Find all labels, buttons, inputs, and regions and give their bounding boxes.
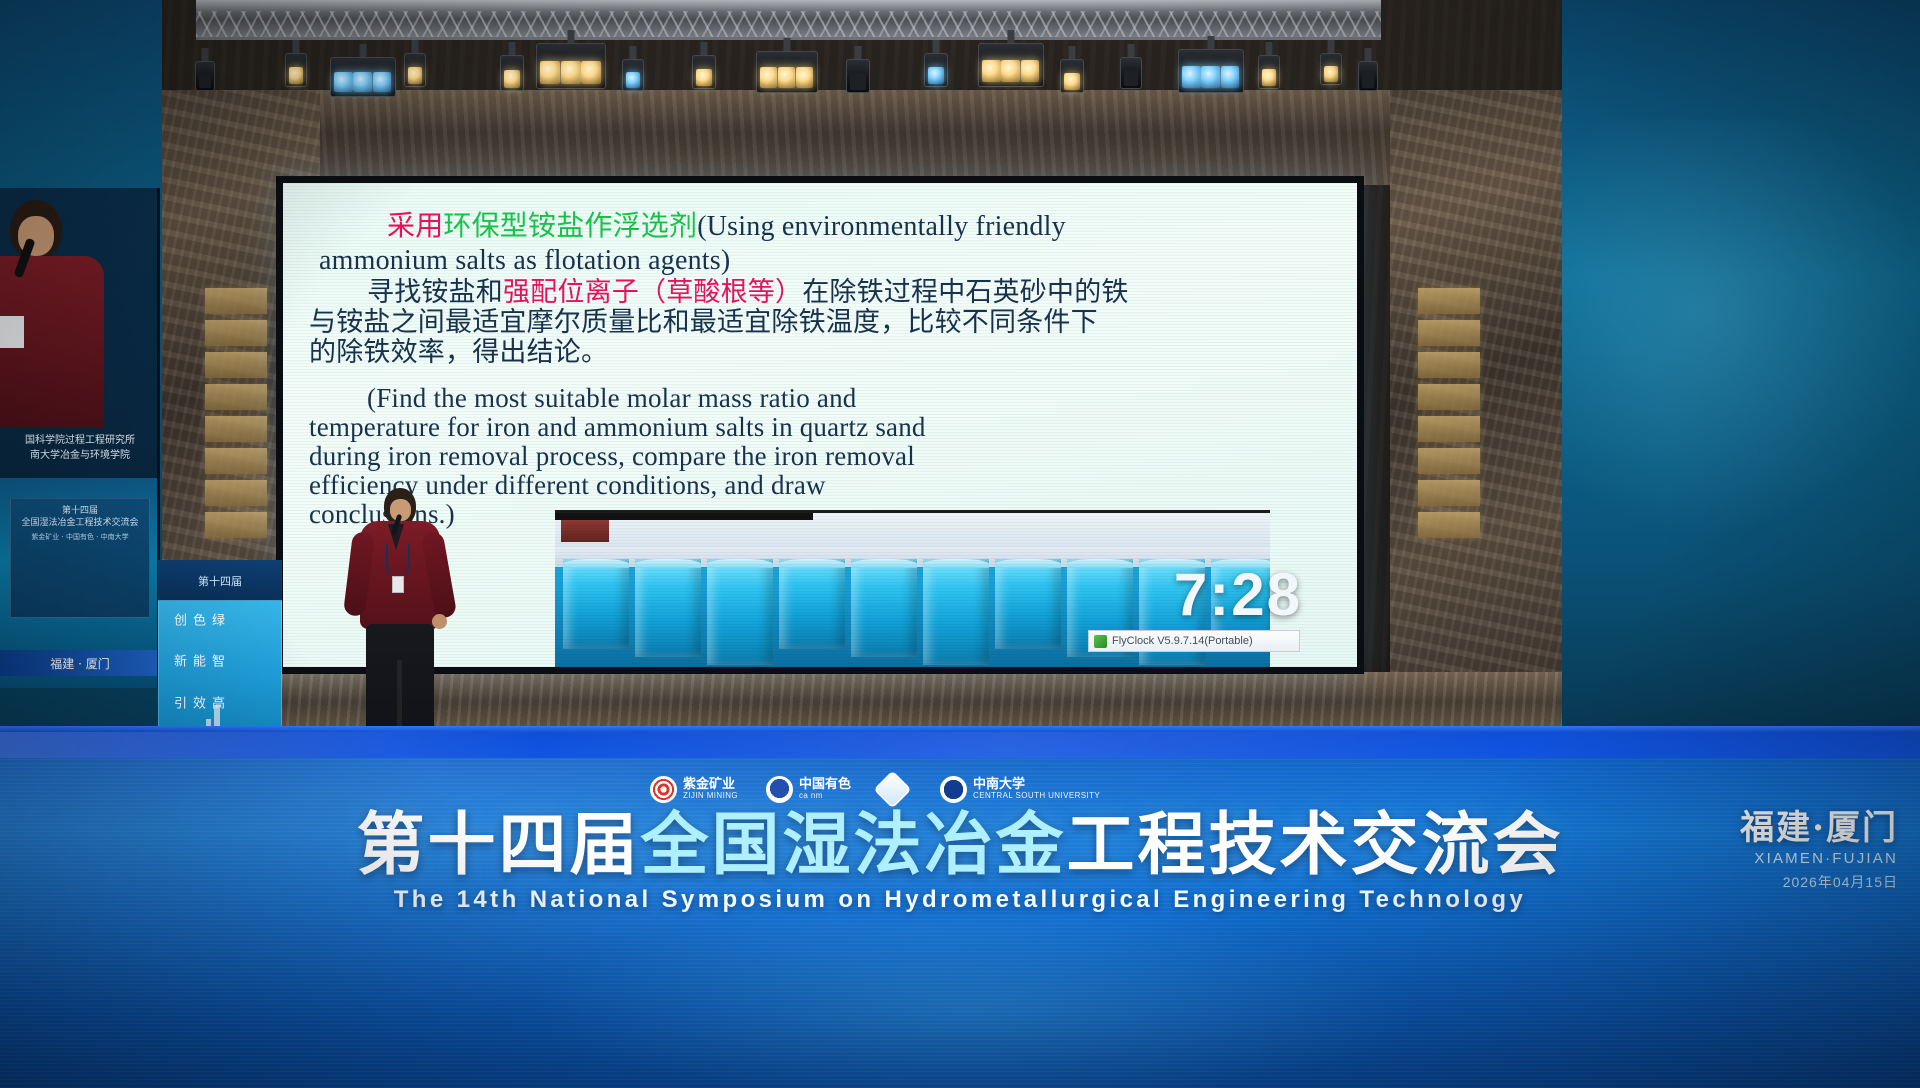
lamp-lens (1201, 66, 1220, 88)
side-screen-caption: 国科学院过程工程研究所 南大学冶金与环境学院 (0, 428, 160, 468)
lamp-housing (1258, 55, 1280, 89)
marble-header-panel (160, 90, 1565, 185)
stage-light-10 (924, 40, 948, 88)
lamp-lens (1064, 73, 1080, 90)
zijin-logo (650, 776, 677, 803)
slide-en-line-2: temperature for iron and ammonium salts … (309, 413, 1339, 442)
lamp-lens (353, 72, 372, 92)
lamp-housing (536, 43, 606, 89)
presenter-lanyard (386, 544, 410, 578)
conference-title-en: The 14th National Symposium on Hydrometa… (0, 886, 1920, 914)
wall-lattice-left (205, 288, 267, 544)
lamp-lens (1362, 73, 1374, 88)
lamp-lens (373, 72, 392, 92)
slide-title-en-part1: (Using environmentally friendly (697, 211, 1066, 242)
side-caption-line1: 国科学院过程工程研究所 (4, 433, 156, 448)
flyclock-taskbar-item[interactable]: FlyClock V5.9.7.14(Portable) (1088, 630, 1300, 652)
lamp-housing (978, 43, 1044, 87)
flotation-tank (995, 559, 1061, 649)
side-screen-speaker-closeup (0, 188, 108, 428)
clock-app-icon (1094, 635, 1107, 648)
lamp-lens (581, 61, 601, 84)
lamp-lens (982, 60, 1001, 82)
lamp-lens (504, 70, 520, 88)
lamp-lens (1001, 60, 1020, 82)
lamp-housing (1060, 59, 1084, 93)
cn-line1-plain1: 寻找铵盐和 (367, 277, 503, 308)
lamp-lens (1324, 66, 1338, 82)
side-poster-line3: 紫金矿业 · 中国有色 · 中南大学 (16, 532, 144, 542)
stage-light-16 (1320, 40, 1342, 86)
flotation-tank (635, 559, 701, 657)
slide-cn-line-3: 的除铁效率，得出结论。 (309, 338, 1339, 368)
stage-light-18 (1358, 48, 1378, 92)
stage-light-5 (536, 30, 606, 90)
lamp-housing (692, 55, 716, 89)
lamp-housing (1178, 49, 1244, 93)
stage-light-4 (500, 42, 524, 92)
slide-title-line1: 采用环保型铵盐作浮选剂(Using environmentally friend… (309, 209, 1339, 244)
standee-col-1: 绿 色 创 (169, 613, 226, 643)
flotation-tank (563, 559, 629, 649)
slide-cn-line-2: 与铵盐之间最适宜摩尔质量比和最适宜除铁温度，比较不同条件下 (309, 308, 1339, 338)
title-segment-highlight: 全国湿法冶金 (640, 805, 1066, 885)
conference-stage-scene: 采用环保型铵盐作浮选剂(Using environmentally friend… (0, 0, 1920, 1088)
lamp-housing (924, 53, 948, 87)
conference-title-cn: 第十四届全国湿法冶金工程技术交流会 (0, 806, 1920, 884)
location-en: XIAMEN·FUJIAN (1648, 850, 1898, 867)
countdown-timer-display: 7:28 (1096, 560, 1310, 628)
lamp-lens (928, 67, 944, 84)
stage-light-2 (330, 44, 396, 98)
side-caption-line2: 南大学冶金与环境学院 (4, 448, 156, 463)
sponsor-logo-4: 中南大学CENTRAL SOUTH UNIVERSITY (940, 776, 1100, 803)
flyclock-label: FlyClock V5.9.7.14(Portable) (1112, 635, 1253, 647)
slide-cn-line-1: 寻找铵盐和强配位离子（草酸根等）在除铁过程中石英砂中的铁 (309, 278, 1339, 308)
conference-location-block: 福建·厦门 XIAMEN·FUJIAN 2026年04月15日 (1648, 808, 1898, 892)
lamp-housing (404, 53, 426, 87)
lamp-housing (330, 57, 396, 97)
stage-light-6 (622, 46, 644, 92)
wall-lattice-right (1418, 288, 1480, 544)
chinalco-logo (766, 776, 793, 803)
lamp-lens (408, 67, 422, 84)
sponsor-name-en: ZIJIN MINING (683, 792, 738, 800)
lamp-lens (1021, 60, 1040, 82)
side-poster-line1: 第十四届 (16, 505, 144, 517)
stage-light-17 (195, 48, 215, 92)
lamp-housing (1320, 53, 1342, 85)
sponsor-text: 中南大学CENTRAL SOUTH UNIVERSITY (973, 778, 1100, 800)
sponsor-name-cn: 紫金矿业 (683, 778, 738, 792)
sponsor-name-cn: 中南大学 (973, 778, 1100, 792)
diamond-logo (873, 770, 911, 808)
presenter-badge (392, 576, 404, 593)
lamp-housing (756, 51, 818, 93)
side-screen-poster: 第十四届 全国湿法冶金工程技术交流会 紫金矿业 · 中国有色 · 中南大学 (10, 498, 150, 618)
lamp-housing (1120, 57, 1142, 89)
sponsor-text: 紫金矿业ZIJIN MINING (683, 778, 738, 800)
lamp-housing (500, 55, 524, 91)
lamp-lens (1182, 66, 1201, 88)
lamp-housing (622, 59, 644, 91)
lamp-lens (850, 73, 866, 90)
sponsor-logo-row: 紫金矿业ZIJIN MINING中国有色ca nm中南大学CENTRAL SOU… (650, 768, 1070, 810)
sponsor-text: 中国有色ca nm (799, 778, 851, 800)
presenter-person (340, 488, 460, 756)
lamp-housing (195, 61, 215, 91)
sponsor-name-cn: 中国有色 (799, 778, 851, 792)
stage-light-3 (404, 40, 426, 88)
sponsor-logo-1: 紫金矿业ZIJIN MINING (650, 776, 738, 803)
sponsor-logo-3 (879, 776, 912, 803)
title-segment-pre: 第十四届 (356, 805, 640, 885)
lamp-lens (626, 72, 640, 88)
side-poster-line2: 全国湿法冶金工程技术交流会 (16, 517, 144, 529)
slide-title-en-part2: ammonium salts as flotation agents) (319, 245, 730, 276)
cn-line1-plain2: 在除铁过程中石英砂中的铁 (802, 277, 1128, 308)
lamp-lens (696, 69, 712, 86)
lamp-lens (540, 61, 560, 84)
side-screen-location-ribbon: 福建 · 厦门 (0, 650, 160, 676)
lamp-lens (778, 67, 795, 88)
slide-en-line-4: efficiency under different conditions, a… (309, 471, 1339, 500)
stage-light-7 (692, 42, 716, 90)
location-cn: 福建·厦门 (1648, 808, 1898, 848)
cn-line1-highlight: 强配位离子（草酸根等） (503, 277, 802, 308)
banner-center-glow (520, 908, 1420, 1088)
lamp-lens (796, 67, 813, 88)
title-segment-post: 工程技术交流会 (1067, 805, 1564, 885)
lamp-lens (1124, 70, 1138, 86)
stage-light-12 (1060, 46, 1084, 94)
lamp-housing (846, 59, 870, 93)
flotation-tank (779, 559, 845, 649)
lamp-lens (289, 67, 303, 84)
standee-col-2: 智 能 新 (169, 654, 226, 684)
right-panel-glow (1562, 120, 1920, 600)
stage-light-8 (756, 38, 818, 94)
stage-light-15 (1258, 42, 1280, 90)
slide-title-cn-green: 环保型铵盐作浮选剂 (443, 209, 697, 242)
stage-light-1 (285, 40, 307, 88)
photo-red-wall (561, 520, 609, 542)
lamp-lens (1262, 69, 1276, 86)
lamp-lens (199, 73, 211, 88)
lamp-lens (334, 72, 353, 92)
slide-title-line2: ammonium salts as flotation agents) (309, 244, 1339, 278)
photo-dark-beam (555, 513, 813, 520)
sponsor-name-en: CENTRAL SOUTH UNIVERSITY (973, 792, 1100, 800)
lamp-lens (760, 67, 777, 88)
lamp-housing (285, 53, 307, 87)
sponsor-logo-2: 中国有色ca nm (766, 776, 851, 803)
stage-light-13 (1120, 44, 1142, 90)
sponsor-name-en: ca nm (799, 792, 851, 800)
presenter-right-hand (432, 614, 447, 629)
csu-logo (940, 776, 967, 803)
flotation-tank (851, 559, 917, 657)
side-led-screen[interactable]: 国科学院过程工程研究所 南大学冶金与环境学院 第十四届 全国湿法冶金工程技术交流… (0, 188, 160, 688)
flotation-tank (923, 559, 989, 665)
slide-title-cn-red: 采用 (387, 209, 443, 242)
standee-header: 第十四届 (158, 560, 282, 602)
slide-en-line-1: (Find the most suitable molar mass ratio… (309, 384, 1339, 413)
speaker-name-badge (0, 316, 24, 348)
stage-light-14 (1178, 36, 1244, 94)
lamp-housing (1358, 61, 1378, 91)
slide-en-line-3: during iron removal process, compare the… (309, 442, 1339, 471)
lamp-lens (1221, 66, 1240, 88)
lighting-truss-top-rail (196, 0, 1381, 11)
stage-light-11 (978, 30, 1044, 88)
stage-light-9 (846, 46, 870, 94)
flotation-tank (707, 559, 773, 665)
conference-date: 2026年04月15日 (1648, 872, 1898, 892)
lamp-lens (561, 61, 581, 84)
